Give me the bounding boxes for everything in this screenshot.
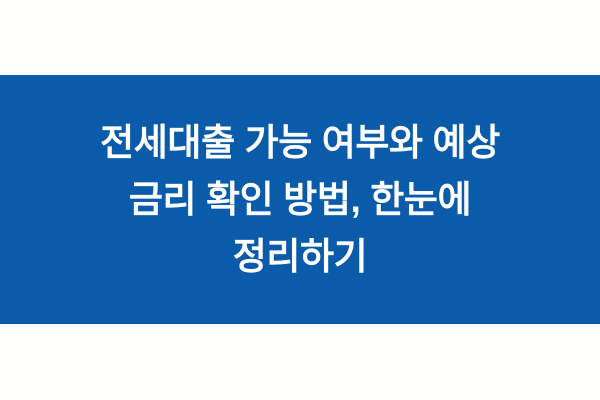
- banner-headline: 전세대출 가능 여부와 예상 금리 확인 방법, 한눈에 정리하기: [0, 114, 600, 285]
- banner-color-band: 전세대출 가능 여부와 예상 금리 확인 방법, 한눈에 정리하기: [0, 75, 600, 324]
- banner-canvas: 전세대출 가능 여부와 예상 금리 확인 방법, 한눈에 정리하기: [0, 0, 600, 400]
- headline-line-2: 금리 확인 방법, 한눈에: [0, 171, 600, 228]
- headline-line-3: 정리하기: [0, 228, 600, 285]
- headline-line-1: 전세대출 가능 여부와 예상: [0, 114, 600, 171]
